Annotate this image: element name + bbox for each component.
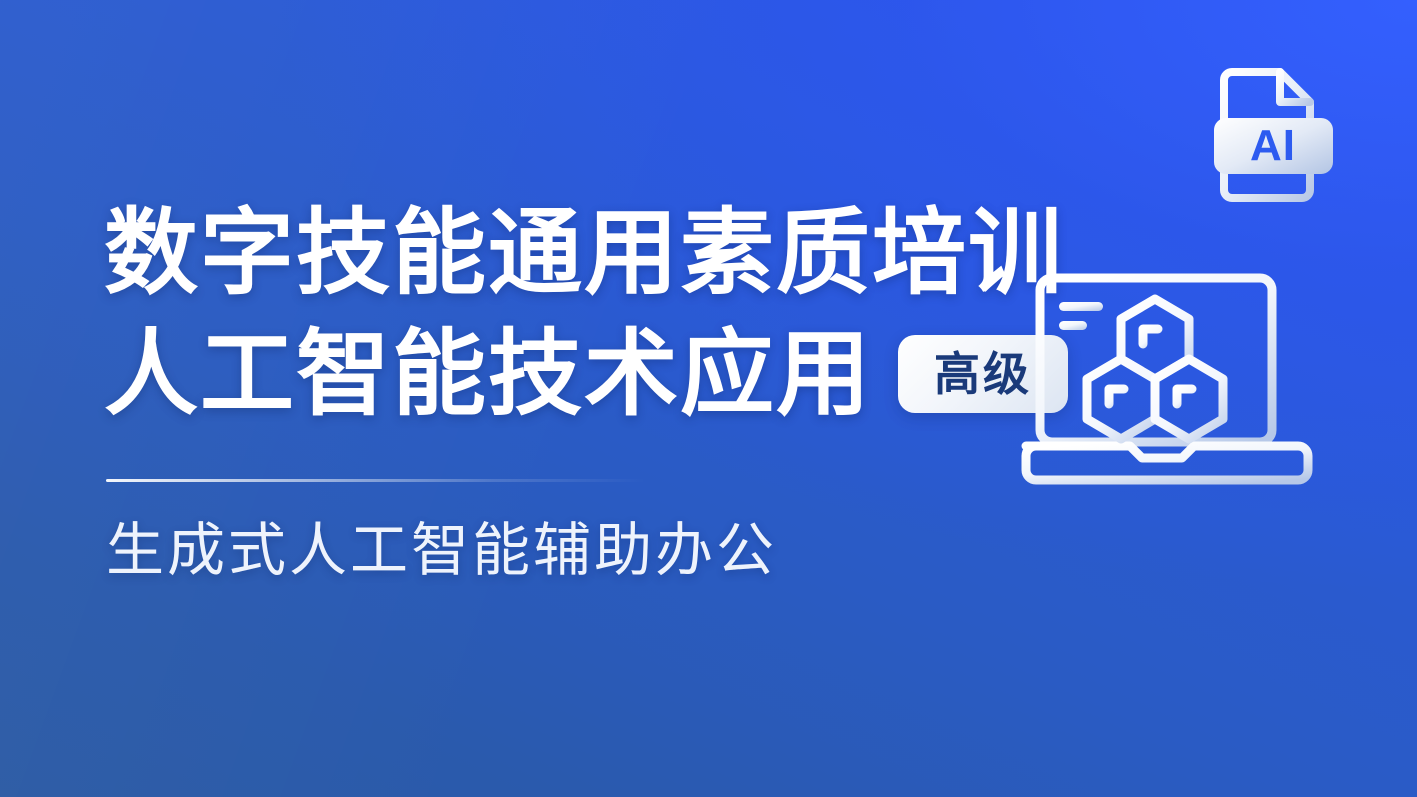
ai-file-icon: AI [1206, 56, 1342, 204]
laptop-hexagon-icon [1012, 268, 1318, 498]
course-title-slide: 数字技能通用素质培训 人工智能技术应用 高级 生成式人工智能辅助办公 [0, 0, 1417, 797]
heading-line-1-row: 数字技能通用素质培训 [104, 196, 964, 311]
heading-line-2-row: 人工智能技术应用 高级 [104, 317, 964, 432]
title-text-block: 数字技能通用素质培训 人工智能技术应用 高级 生成式人工智能辅助办公 [104, 196, 964, 586]
page-subtitle: 生成式人工智能辅助办公 [106, 516, 964, 586]
title-divider [106, 479, 646, 482]
svg-text:AI: AI [1250, 121, 1296, 170]
page-title-line-2: 人工智能技术应用 [104, 317, 872, 432]
page-title-line-1: 数字技能通用素质培训 [104, 196, 1064, 311]
